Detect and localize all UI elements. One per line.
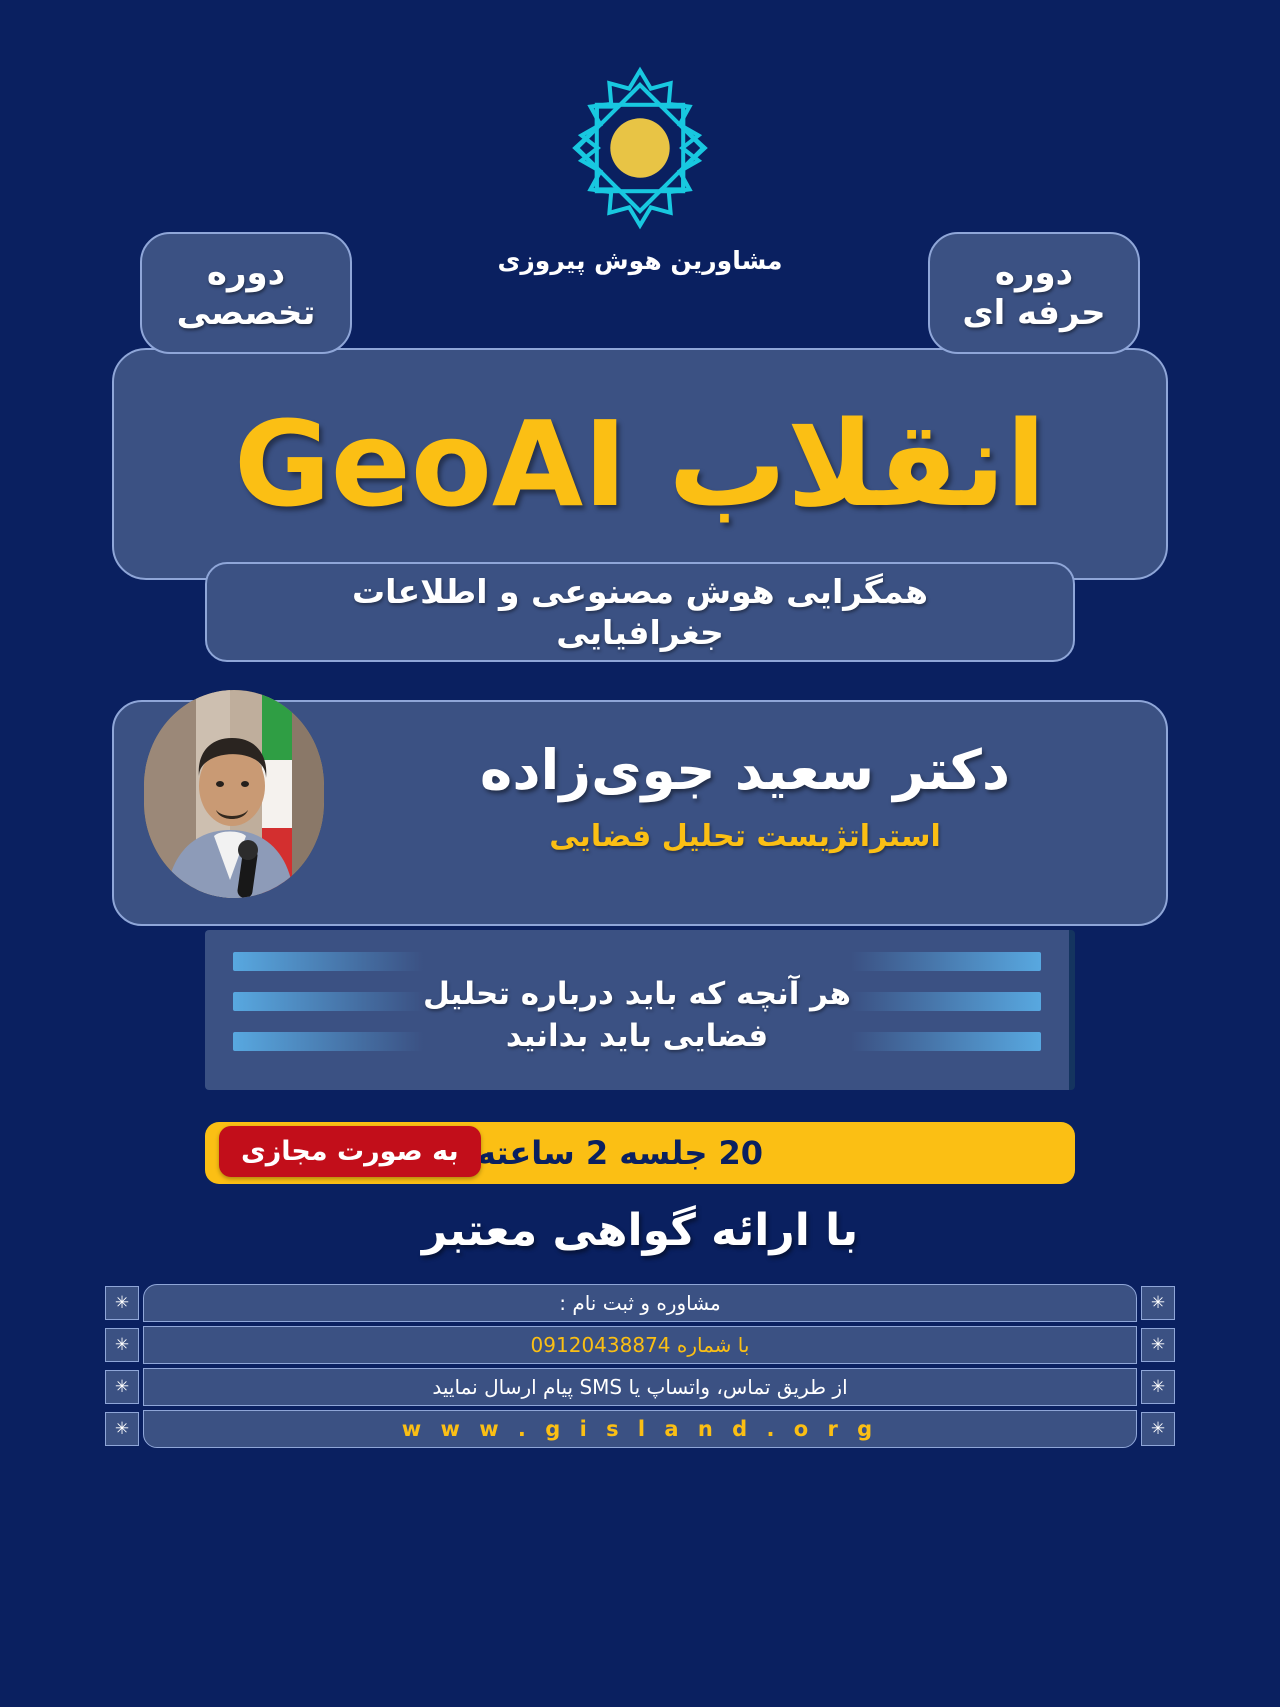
asterisk-icon-right-2: ✳ — [1141, 1328, 1175, 1362]
decor-bar-left-1 — [233, 952, 423, 971]
subtitle-line-2: جغرافیایی — [352, 612, 928, 653]
asterisk-icon-right-1: ✳ — [1141, 1286, 1175, 1320]
status-badge-virtual: به صورت مجازی — [219, 1126, 481, 1177]
footer-phone-number[interactable]: با شماره 09120438874 — [531, 1335, 750, 1355]
page-title: انقلاب GeoAI — [234, 405, 1046, 523]
footer-line-3: از طریق تماس، واتساپ یا SMS پیام ارسال ن… — [432, 1377, 847, 1397]
instructor-role: استراتژیست تحلیل فضایی — [364, 819, 1126, 854]
badge-left-line2: تخصصی — [177, 293, 316, 333]
footer-website-url[interactable]: w w w . g i s l a n d . o r g — [402, 1419, 878, 1440]
subtitle-card: همگرایی هوش مصنوعی و اطلاعات جغرافیایی — [205, 562, 1075, 662]
footer-strip-3: از طریق تماس، واتساپ یا SMS پیام ارسال ن… — [143, 1368, 1137, 1406]
footer-row-4: ✳ ✳ w w w . g i s l a n d . o r g — [105, 1410, 1175, 1448]
instructor-name: دکتر سعید جوی‌زاده — [364, 740, 1126, 801]
footer-strip-2: با شماره 09120438874 — [143, 1326, 1137, 1364]
asterisk-icon-left-2: ✳ — [105, 1328, 139, 1362]
asterisk-icon-right-4: ✳ — [1141, 1412, 1175, 1446]
footer-row-3: ✳ ✳ از طریق تماس، واتساپ یا SMS پیام ارس… — [105, 1368, 1175, 1406]
poster-root: مشاورین هوش پیروزی دوره تخصصی دوره حرفه … — [0, 0, 1280, 1707]
avatar — [144, 690, 324, 898]
footer-row-1: ✳ ✳ مشاوره و ثبت نام : — [105, 1284, 1175, 1322]
certificate-text: با ارائه گواهی معتبر — [0, 1205, 1280, 1256]
instructor-card: دکتر سعید جوی‌زاده استراتژیست تحلیل فضای… — [112, 700, 1168, 926]
subtitle-block: همگرایی هوش مصنوعی و اطلاعات جغرافیایی — [352, 571, 928, 654]
footer-strip-4[interactable]: w w w . g i s l a n d . o r g — [143, 1410, 1137, 1448]
brand-logo-wrapper — [0, 58, 1280, 238]
badge-left-line1: دوره — [177, 253, 316, 293]
asterisk-icon-left-4: ✳ — [105, 1412, 139, 1446]
description-line-2: فضایی باید بدانید — [205, 1016, 1069, 1058]
badge-specialized-course: دوره تخصصی — [140, 232, 352, 354]
asterisk-icon-right-3: ✳ — [1141, 1370, 1175, 1404]
subtitle-line-1: همگرایی هوش مصنوعی و اطلاعات — [352, 571, 928, 612]
title-card: انقلاب GeoAI — [112, 348, 1168, 580]
footer-row-2: ✳ ✳ با شماره 09120438874 — [105, 1326, 1175, 1364]
footer-strip-1: مشاوره و ثبت نام : — [143, 1284, 1137, 1322]
instructor-info: دکتر سعید جوی‌زاده استراتژیست تحلیل فضای… — [364, 740, 1126, 854]
description-line-1: هر آنچه که باید درباره تحلیل — [205, 974, 1069, 1016]
badge-right-line1: دوره — [962, 253, 1105, 293]
asterisk-icon-left-3: ✳ — [105, 1370, 139, 1404]
description-panel: هر آنچه که باید درباره تحلیل فضایی باید … — [205, 930, 1075, 1090]
islamic-star-sun-logo-icon — [550, 58, 730, 238]
asterisk-icon-left-1: ✳ — [105, 1286, 139, 1320]
badge-right-line2: حرفه ای — [962, 293, 1105, 333]
instructor-photo-icon — [144, 690, 324, 898]
footer-line-1: مشاوره و ثبت نام : — [559, 1293, 721, 1313]
session-info-bar: به صورت مجازی 20 جلسه 2 ساعته — [205, 1122, 1075, 1184]
decor-bar-right-1 — [851, 952, 1041, 971]
footer-contact: ✳ ✳ مشاوره و ثبت نام : ✳ ✳ با شماره 0912… — [105, 1284, 1175, 1452]
badge-professional-course: دوره حرفه ای — [928, 232, 1140, 354]
description-text: هر آنچه که باید درباره تحلیل فضایی باید … — [205, 974, 1069, 1058]
